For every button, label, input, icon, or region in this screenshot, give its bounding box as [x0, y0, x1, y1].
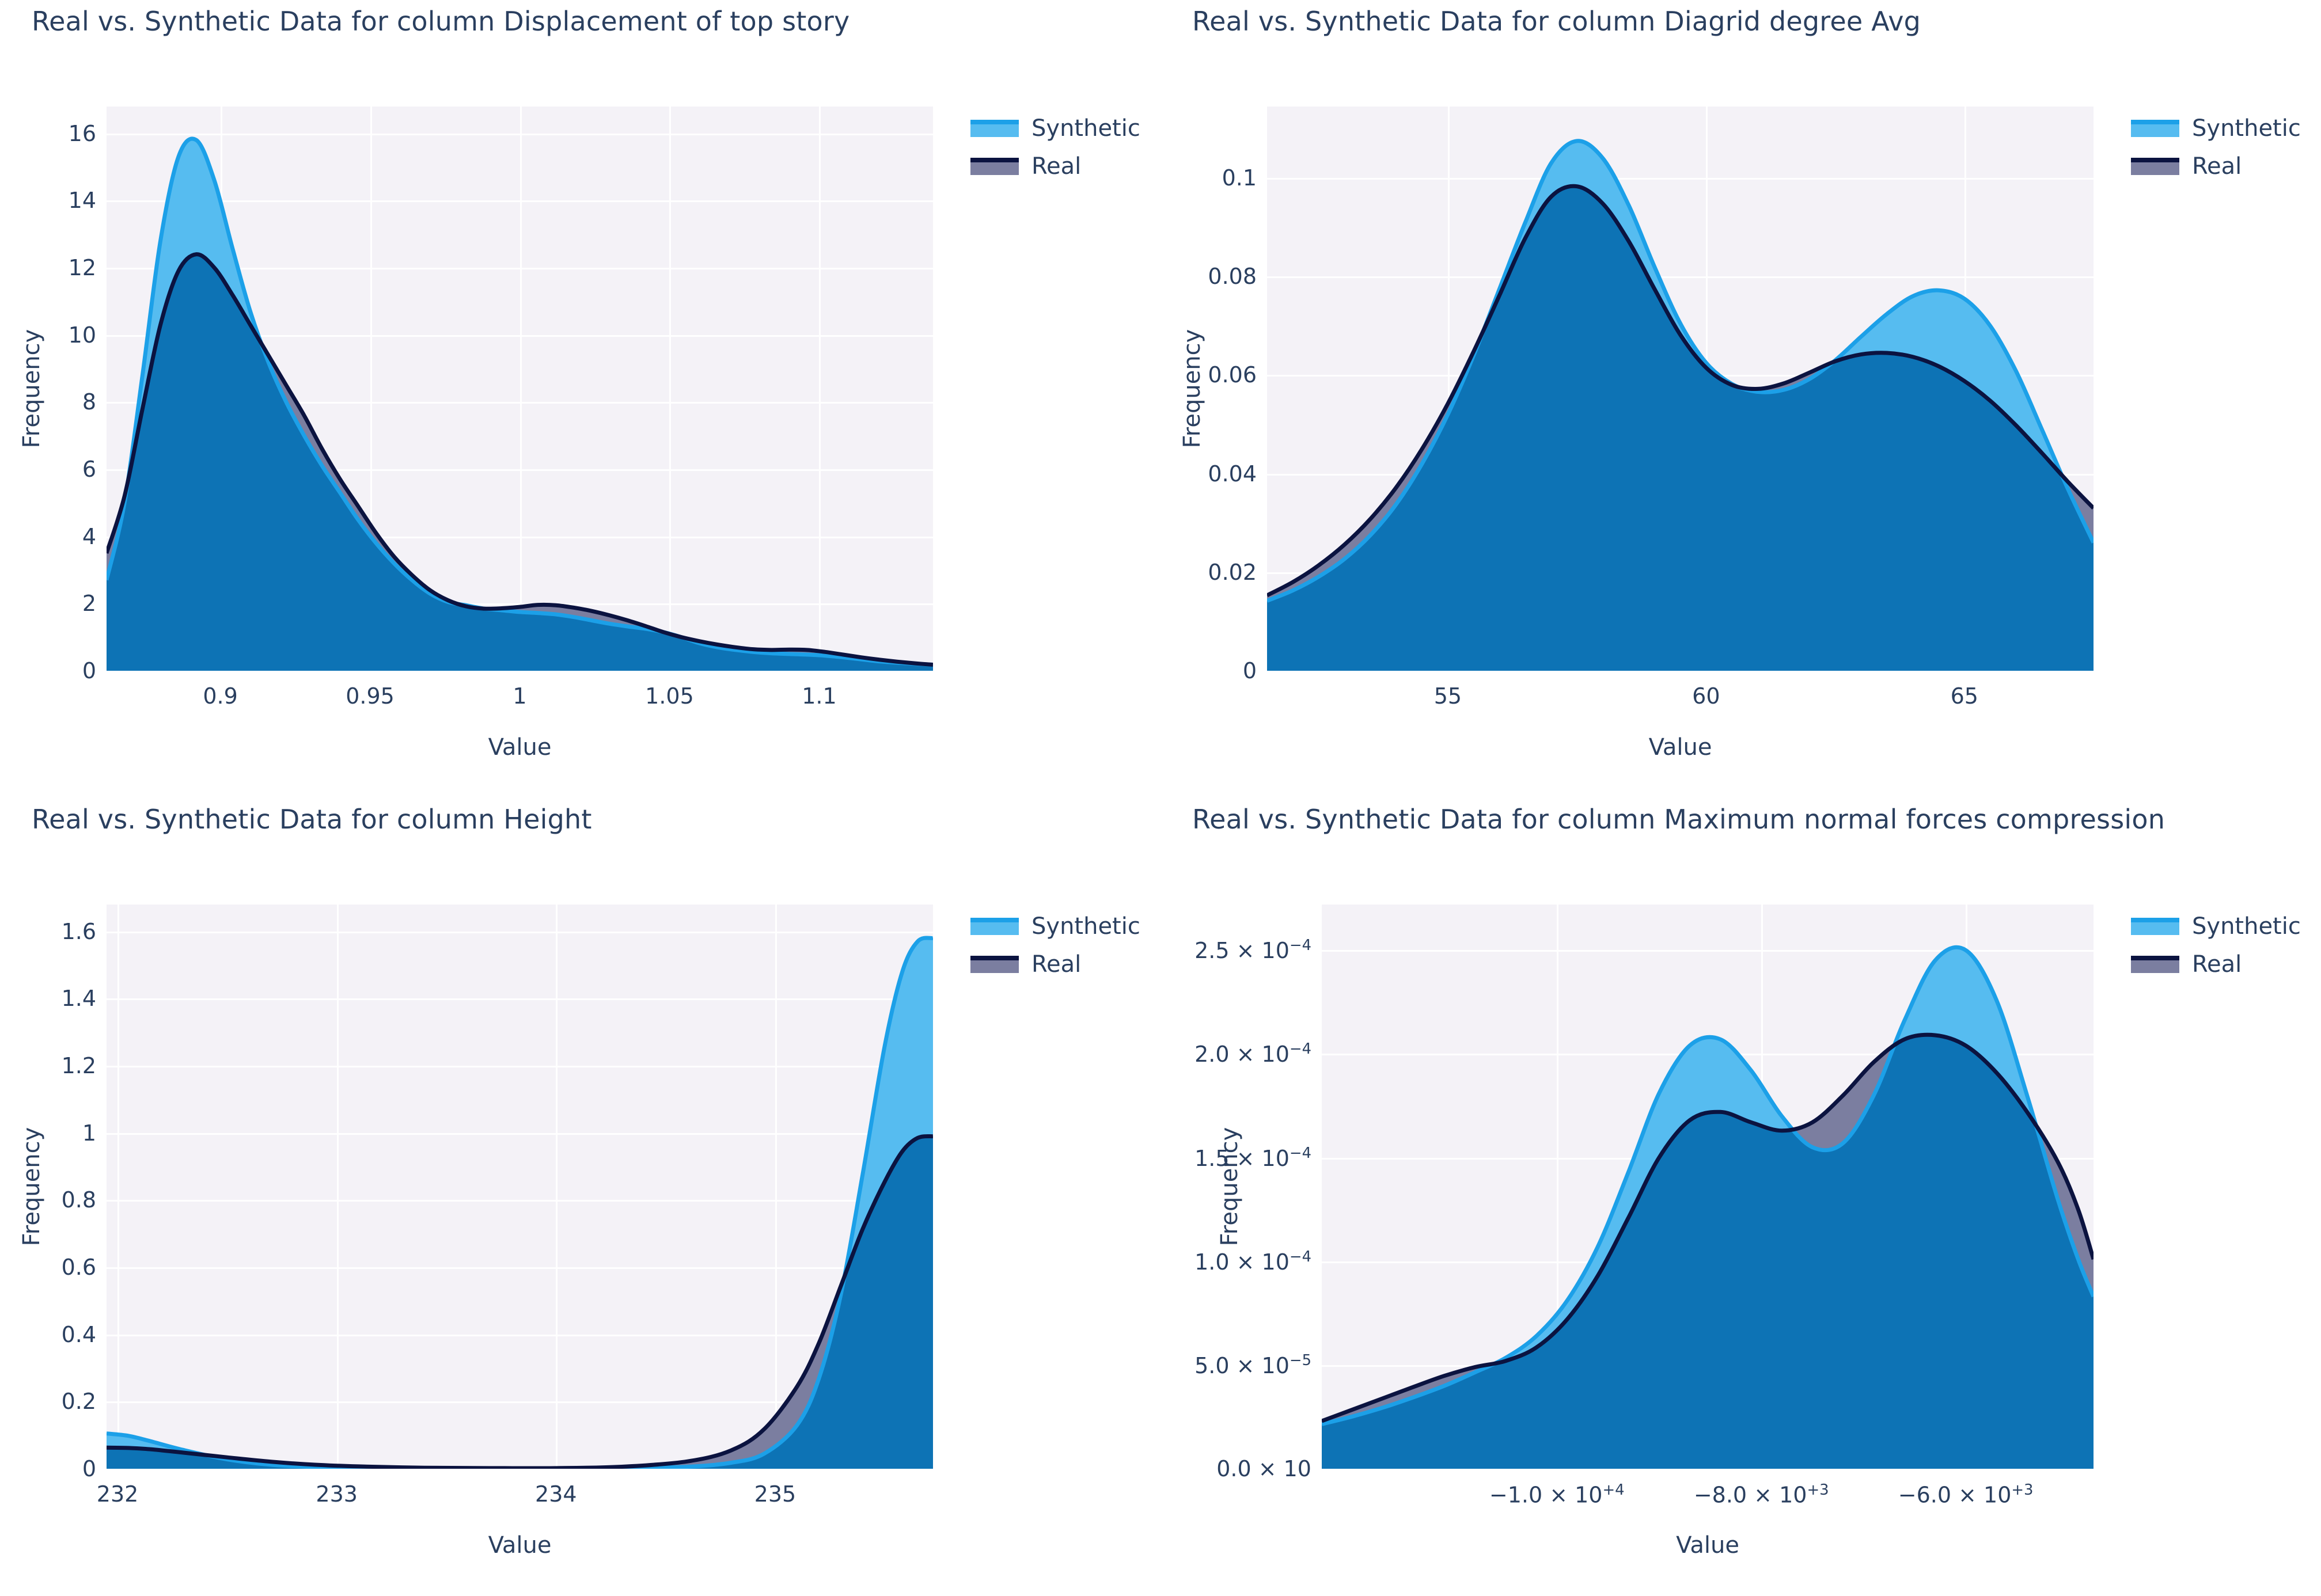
- legend-label: Real: [1031, 951, 1081, 978]
- legend-swatch-line: [970, 918, 1019, 922]
- x-axis-title: Value: [488, 1532, 552, 1559]
- x-axis-tick-label: 233: [316, 1481, 358, 1507]
- y-axis-tick-label: 0.08: [1208, 264, 1257, 289]
- legend-label: Synthetic: [2192, 115, 2301, 142]
- x-axis-tick-label: 0.95: [346, 683, 395, 709]
- legend-swatch-line: [2131, 120, 2179, 124]
- x-axis-tick-label: −6.0 × 10+3: [1898, 1481, 2034, 1508]
- legend: SyntheticReal: [2131, 913, 2301, 989]
- y-axis-tick-label: 1.2: [62, 1053, 96, 1078]
- plot-area: [1267, 107, 2094, 671]
- y-axis-tick-label: 2.0 × 10−4: [1194, 1041, 1311, 1067]
- x-axis-title: Value: [1649, 734, 1712, 761]
- y-axis-title: Frequency: [18, 1127, 45, 1247]
- panel-diagrid: Real vs. Synthetic Data for column Diagr…: [1160, 0, 2321, 798]
- legend-swatch-icon: [970, 956, 1019, 973]
- y-axis-tick-label: 0.2: [62, 1389, 96, 1414]
- x-axis-tick-label: 234: [535, 1481, 577, 1507]
- plot-area: [107, 905, 933, 1469]
- y-axis-tick-label: 1.5 × 10−4: [1194, 1145, 1311, 1171]
- x-axis-tick-label: 1.05: [645, 683, 694, 709]
- legend-item-real[interactable]: Real: [2131, 951, 2301, 978]
- legend-label: Synthetic: [1031, 913, 1140, 940]
- legend-swatch-icon: [2131, 120, 2179, 137]
- legend-swatch-line: [2131, 956, 2179, 960]
- y-axis-tick-label: 1: [82, 1120, 96, 1146]
- legend-item-synthetic[interactable]: Synthetic: [2131, 115, 2301, 142]
- legend-label: Real: [2192, 951, 2242, 978]
- y-axis-tick-label: 2.5 × 10−4: [1194, 937, 1311, 963]
- area-overlap: [107, 1136, 933, 1469]
- x-axis-tick-label: 232: [97, 1481, 139, 1507]
- y-axis-tick-label: 8: [82, 389, 96, 415]
- legend-label: Real: [2192, 153, 2242, 180]
- y-axis-tick-label: 0: [82, 658, 96, 683]
- y-axis-tick-label: 0.0 × 10: [1216, 1456, 1311, 1481]
- panel-title: Real vs. Synthetic Data for column Maxim…: [1192, 804, 2165, 835]
- x-axis-tick-label: 65: [1951, 683, 1978, 709]
- x-axis-tick-label: 235: [754, 1481, 797, 1507]
- legend-item-synthetic[interactable]: Synthetic: [970, 115, 1140, 142]
- panel-title: Real vs. Synthetic Data for column Heigh…: [32, 804, 592, 835]
- legend-swatch-line: [2131, 158, 2179, 162]
- y-axis-title: Frequency: [18, 329, 45, 449]
- kde-curves: [1322, 905, 2094, 1469]
- panel-height: Real vs. Synthetic Data for column Heigh…: [0, 798, 1160, 1596]
- x-axis-tick-label: 0.9: [203, 683, 237, 709]
- legend-item-synthetic[interactable]: Synthetic: [970, 913, 1140, 940]
- legend-swatch-line: [2131, 918, 2179, 922]
- panel-displacement: Real vs. Synthetic Data for column Displ…: [0, 0, 1160, 798]
- y-axis-tick-label: 14: [69, 188, 96, 213]
- legend: SyntheticReal: [970, 115, 1140, 191]
- y-axis-tick-label: 4: [82, 524, 96, 549]
- y-axis-tick-label: 1.0 × 10−4: [1194, 1248, 1311, 1275]
- x-axis-tick-label: 55: [1434, 683, 1462, 709]
- y-axis-tick-label: 6: [82, 457, 96, 482]
- legend-swatch-icon: [970, 918, 1019, 935]
- legend-label: Synthetic: [1031, 115, 1140, 142]
- y-axis-tick-label: 0.06: [1208, 362, 1257, 387]
- y-axis-tick-label: 0.1: [1222, 165, 1257, 191]
- panel-title: Real vs. Synthetic Data for column Diagr…: [1192, 6, 1921, 37]
- y-axis-tick-label: 1.4: [62, 986, 96, 1011]
- y-axis-tick-label: 10: [69, 322, 96, 348]
- legend-swatch-icon: [970, 120, 1019, 137]
- legend-item-synthetic[interactable]: Synthetic: [2131, 913, 2301, 940]
- x-axis-tick-label: −8.0 × 10+3: [1694, 1481, 1829, 1508]
- legend: SyntheticReal: [2131, 115, 2301, 191]
- y-axis-tick-label: 0.6: [62, 1255, 96, 1280]
- legend-item-real[interactable]: Real: [2131, 153, 2301, 180]
- panel-title: Real vs. Synthetic Data for column Displ…: [32, 6, 849, 37]
- legend-swatch-icon: [2131, 918, 2179, 935]
- kde-curves: [107, 905, 933, 1469]
- legend-label: Real: [1031, 153, 1081, 180]
- y-axis-title: Frequency: [1179, 329, 1205, 449]
- legend-swatch-line: [970, 120, 1019, 124]
- figure-grid: Real vs. Synthetic Data for column Displ…: [0, 0, 2321, 1596]
- y-axis-title: Frequency: [1216, 1127, 1243, 1247]
- y-axis-tick-label: 16: [69, 121, 96, 146]
- area-overlap: [1267, 186, 2094, 671]
- panel-normal-forces: Real vs. Synthetic Data for column Maxim…: [1160, 798, 2321, 1596]
- legend-item-real[interactable]: Real: [970, 951, 1140, 978]
- plot-area: [107, 107, 933, 671]
- x-axis-title: Value: [1676, 1532, 1739, 1559]
- y-axis-tick-label: 0.8: [62, 1187, 96, 1213]
- kde-curves: [1267, 107, 2094, 671]
- y-axis-tick-label: 0.02: [1208, 560, 1257, 585]
- y-axis-tick-label: 12: [69, 255, 96, 280]
- x-axis-title: Value: [488, 734, 552, 761]
- legend-swatch-line: [970, 158, 1019, 162]
- legend-item-real[interactable]: Real: [970, 153, 1140, 180]
- legend-swatch-icon: [2131, 956, 2179, 973]
- legend: SyntheticReal: [970, 913, 1140, 989]
- y-axis-tick-label: 0.4: [62, 1322, 96, 1347]
- y-axis-tick-label: 0: [82, 1456, 96, 1481]
- legend-swatch-line: [970, 956, 1019, 960]
- y-axis-tick-label: 1.6: [62, 919, 96, 944]
- legend-swatch-icon: [970, 158, 1019, 175]
- y-axis-tick-label: 0: [1243, 658, 1257, 683]
- y-axis-tick-label: 2: [82, 591, 96, 616]
- plot-area: [1322, 905, 2094, 1469]
- x-axis-tick-label: −1.0 × 10+4: [1489, 1481, 1625, 1508]
- x-axis-tick-label: 1.1: [802, 683, 836, 709]
- legend-swatch-icon: [2131, 158, 2179, 175]
- x-axis-tick-label: 60: [1692, 683, 1720, 709]
- y-axis-tick-label: 0.04: [1208, 461, 1257, 487]
- y-axis-tick-label: 5.0 × 10−5: [1194, 1352, 1311, 1378]
- x-axis-tick-label: 1: [513, 683, 526, 709]
- legend-label: Synthetic: [2192, 913, 2301, 940]
- kde-curves: [107, 107, 933, 671]
